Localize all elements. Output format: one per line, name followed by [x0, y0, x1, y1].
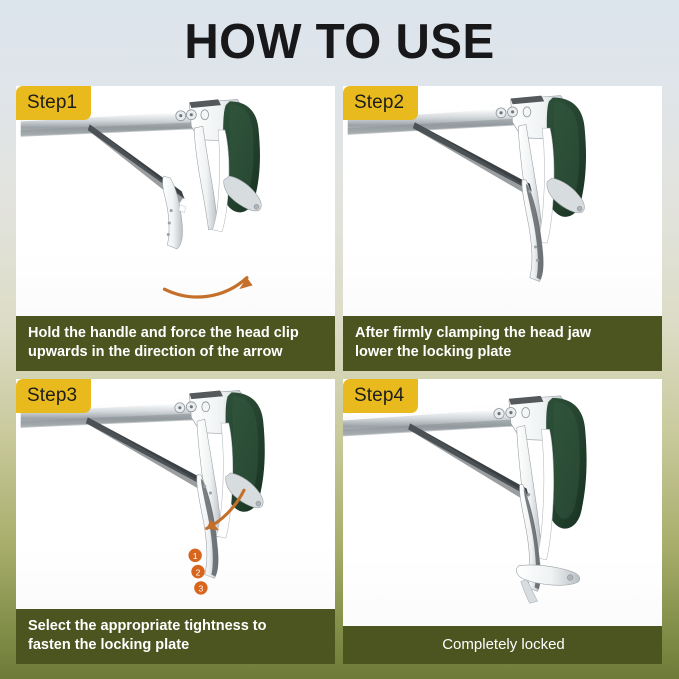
- caption-line: After firmly clamping the head jaw: [355, 324, 591, 343]
- grabber-tool-illustration-tighten: 1 2 3: [16, 379, 335, 609]
- infographic-page: HOW TO USE Step1: [0, 0, 679, 679]
- svg-text:1: 1: [193, 551, 198, 561]
- tightness-marker-3: 3: [194, 581, 207, 594]
- tightness-marker-2: 2: [191, 565, 204, 578]
- step-illustration-2: Step2: [343, 86, 662, 316]
- tightness-markers: 1 2 3: [188, 549, 207, 595]
- step-caption-3: Select the appropriate tightness to fast…: [16, 609, 335, 664]
- caption-line: upwards in the direction of the arrow: [28, 343, 299, 362]
- steps-grid: Step1: [16, 86, 662, 664]
- step-panel-2: Step2: [343, 86, 662, 371]
- page-title: HOW TO USE: [10, 14, 669, 70]
- step-badge-1: Step1: [16, 86, 91, 120]
- grabber-tool-illustration-locked: [343, 379, 662, 626]
- step-panel-4: Step4: [343, 379, 662, 664]
- step-illustration-3: Step3: [16, 379, 335, 609]
- step-illustration-1: Step1: [16, 86, 335, 316]
- caption-line: fasten the locking plate: [28, 636, 267, 655]
- caption-line: Select the appropriate tightness to: [28, 617, 267, 636]
- grabber-tool-illustration-open: [16, 86, 335, 316]
- grabber-tool-illustration-clamped: [343, 86, 662, 316]
- step-panel-1: Step1: [16, 86, 335, 371]
- step-panel-3: Step3: [16, 379, 335, 664]
- step-caption-4: Completely locked: [343, 626, 662, 664]
- step-illustration-4: Step4: [343, 379, 662, 626]
- step-caption-1: Hold the handle and force the head clip …: [16, 316, 335, 371]
- direction-arrow-up: [164, 278, 252, 297]
- step-badge-3: Step3: [16, 379, 91, 413]
- caption-line: Hold the handle and force the head clip: [28, 324, 299, 343]
- svg-text:3: 3: [198, 584, 203, 594]
- caption-line: lower the locking plate: [355, 343, 591, 362]
- svg-text:2: 2: [196, 567, 201, 577]
- step-badge-2: Step2: [343, 86, 418, 120]
- caption-line: Completely locked: [442, 635, 565, 654]
- tightness-marker-1: 1: [188, 549, 201, 562]
- step-caption-2: After firmly clamping the head jaw lower…: [343, 316, 662, 371]
- step-badge-4: Step4: [343, 379, 418, 413]
